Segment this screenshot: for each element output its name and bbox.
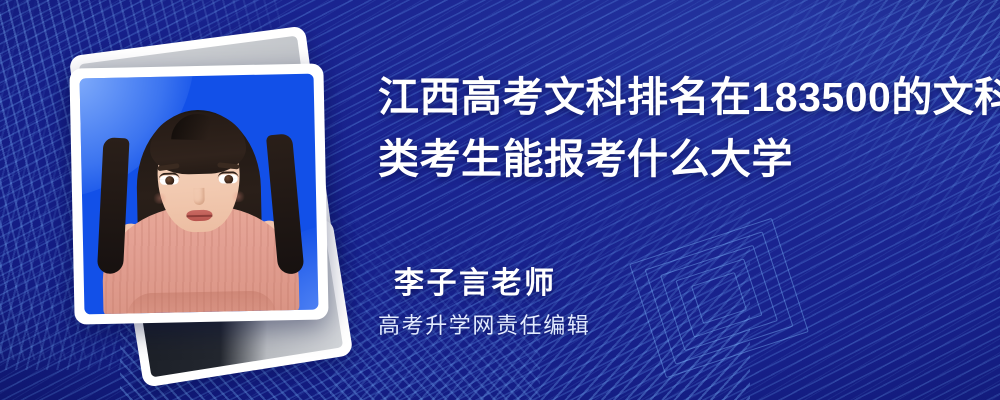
author-role: 高考升学网责任编辑 (378, 311, 808, 341)
headline-line-1: 江西高考文科排名在183500的文科 (378, 66, 966, 128)
headline-line-2: 类考生能报考什么大学 (378, 128, 966, 190)
article-cover-banner: 江西高考文科排名在183500的文科 类考生能报考什么大学 李子言老师 高考升学… (0, 0, 1000, 400)
portrait-illustration (80, 74, 319, 315)
portrait-eyelid-left (159, 172, 180, 179)
portrait-lips (186, 210, 212, 222)
author-byline: 李子言老师 高考升学网责任编辑 (378, 266, 808, 341)
article-headline: 江西高考文科排名在183500的文科 类考生能报考什么大学 (378, 66, 966, 190)
portrait-eyelid-right (218, 171, 239, 178)
author-name: 李子言老师 (378, 266, 808, 302)
portrait-nose (193, 188, 204, 205)
photo-card-stack (46, 34, 346, 364)
banner-content: 江西高考文科排名在183500的文科 类考生能报考什么大学 李子言老师 高考升学… (374, 0, 974, 400)
portrait-dress-waist (126, 290, 277, 314)
author-photo (80, 74, 319, 315)
author-photo-card (69, 63, 328, 324)
